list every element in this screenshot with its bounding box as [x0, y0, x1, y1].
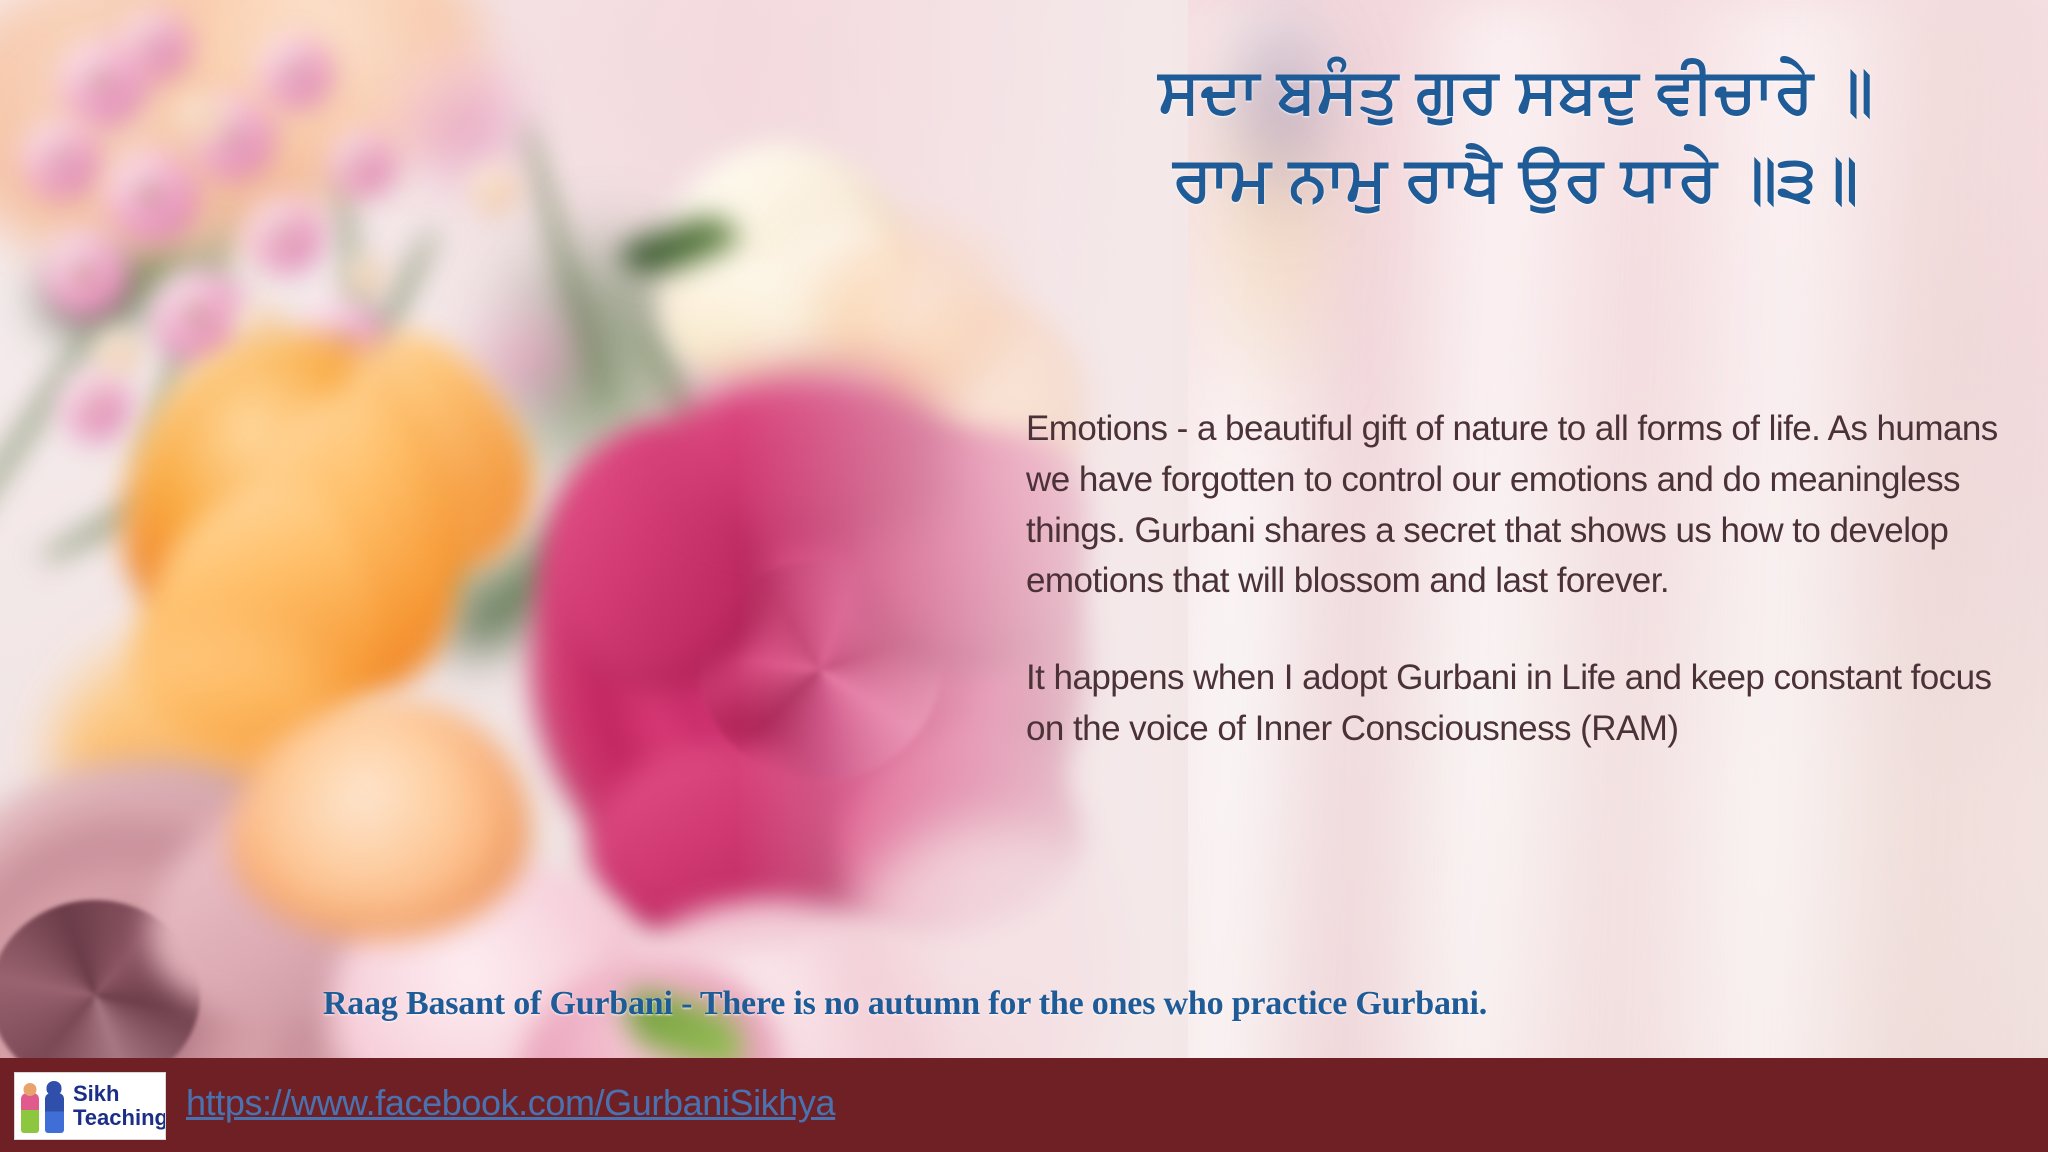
gurmukhi-line-2: ਰਾਮ ਨਾਮੁ ਰਾਖੈ ਉਰ ਧਾਰੇ ॥੩॥	[1016, 136, 2016, 224]
gurmukhi-line-1: ਸਦਾ ਬਸੰਤੁ ਗੁਰ ਸਬਦੁ ਵੀਚਾਰੇ ॥	[1016, 48, 2016, 136]
sikh-teachings-logo[interactable]: Sikh Teachings	[14, 1072, 166, 1140]
body-copy: Emotions - a beautiful gift of nature to…	[1026, 404, 2036, 755]
logo-line-2: Teachings	[73, 1107, 166, 1129]
figure-man-icon	[45, 1093, 64, 1133]
facebook-url-link[interactable]: https://www.facebook.com/GurbaniSikhya	[186, 1082, 835, 1124]
poster-canvas: ਸਦਾ ਬਸੰਤੁ ਗੁਰ ਸਬਦੁ ਵੀਚਾਰੇ ॥ ਰਾਮ ਨਾਮੁ ਰਾਖ…	[0, 0, 2048, 1152]
logo-line-1: Sikh	[73, 1083, 166, 1105]
body-paragraph-2: It happens when I adopt Gurbani in Life …	[1026, 653, 2036, 755]
logo-wordmark: Sikh Teachings	[71, 1083, 166, 1129]
gurmukhi-verse: ਸਦਾ ਬਸੰਤੁ ਗੁਰ ਸਬਦੁ ਵੀਚਾਰੇ ॥ ਰਾਮ ਨਾਮੁ ਰਾਖ…	[1016, 48, 2016, 224]
body-paragraph-1: Emotions - a beautiful gift of nature to…	[1026, 404, 2036, 607]
footer-bar: Sikh Teachings https://www.facebook.com/…	[0, 1058, 2048, 1152]
figure-woman-icon	[21, 1093, 39, 1133]
logo-figures-icon	[19, 1077, 71, 1135]
figure-woman-head-icon	[24, 1083, 37, 1096]
figure-man-turban-icon	[47, 1081, 62, 1095]
caption-text: Raag Basant of Gurbani - There is no aut…	[0, 985, 1810, 1023]
